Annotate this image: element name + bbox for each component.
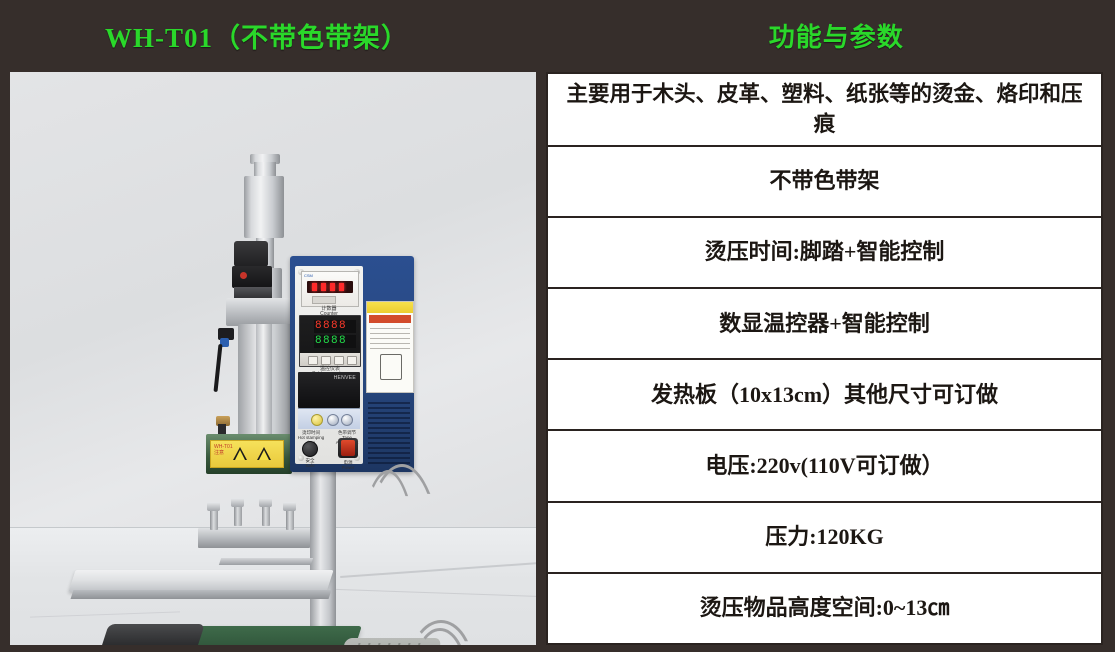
counter-brand-text: CSM: [304, 273, 313, 278]
machine-green-base: [178, 626, 362, 645]
hazard-triangle-icon-2: [257, 447, 271, 460]
header-left-cell: WH-T01（不带色带架）: [0, 0, 558, 70]
temp-btn-up[interactable]: [347, 356, 357, 365]
spec-row-2: 烫压时间:脚踏+智能控制: [548, 218, 1101, 289]
work-table-handle-block: [99, 624, 205, 645]
product-spec-page: WH-T01（不带色带架） 功能与参数: [0, 0, 1115, 652]
header-band: WH-T01（不带色带架） 功能与参数: [0, 0, 1115, 70]
spec-row-1: 不带色带架: [548, 147, 1101, 218]
hazard-triangle-icon-1: [233, 447, 247, 460]
timer-knob-yellow[interactable]: [311, 414, 323, 426]
mount-bolt-4: [286, 510, 294, 530]
sticker-header-bar: [367, 302, 413, 313]
mount-bolt-cap-2: [231, 498, 244, 507]
temp-display-pv: 88 88: [314, 320, 356, 333]
pneumatic-cylinder-upper: [244, 176, 284, 238]
work-table-edge: [71, 590, 332, 599]
temp-display-sv: 88 88: [314, 335, 356, 348]
sticker-red-bar: [369, 315, 411, 323]
timer-brand-text: HENVEE: [334, 375, 356, 381]
machine-frame-top-block: [226, 298, 300, 326]
temperature-controller-module: 88 88 88 88: [299, 315, 361, 367]
solenoid-valve-indicator: [240, 272, 247, 279]
solenoid-valve-coil: [234, 241, 268, 267]
work-table-surface: [68, 570, 333, 592]
sticker-hazard-icon: [380, 354, 402, 380]
header-right-cell: 功能与参数: [558, 0, 1115, 70]
spec-row-5: 电压:220v(110V可订做）: [548, 431, 1101, 502]
safety-knob[interactable]: [302, 441, 318, 457]
warning-label-brand-text: WH-T01注意: [214, 444, 233, 456]
spec-row-6: 压力:120KG: [548, 503, 1101, 574]
power-switch[interactable]: [338, 438, 358, 458]
machine-lower-column: [310, 468, 336, 630]
product-photo: WH-T01注意: [10, 72, 536, 645]
spec-row-4: 发热板（10x13cm）其他尺寸可订做: [548, 360, 1101, 431]
power-label: 电源Power: [334, 460, 362, 470]
page-title-right: 功能与参数: [769, 17, 904, 54]
mount-bolt-cap-4: [283, 502, 296, 511]
spec-row-3: 数显温控器+智能控制: [548, 289, 1101, 360]
counter-led-screen: [307, 281, 353, 293]
timer-module: HENVEE: [298, 372, 360, 408]
temp-btn-left[interactable]: [321, 356, 331, 365]
high-temperature-warning-label: WH-T01注意: [210, 440, 284, 468]
timer-knob-1[interactable]: [327, 414, 339, 426]
temp-btn-set[interactable]: [308, 356, 318, 365]
page-title-left: WH-T01（不带色带架）: [105, 16, 409, 55]
control-box-vents: [368, 402, 410, 466]
temp-btn-down[interactable]: [334, 356, 344, 365]
spec-row-0: 主要用于木头、皮革、塑料、纸张等的烫金、烙印和压痕: [548, 74, 1101, 147]
counter-display-module: CSM: [301, 271, 359, 307]
air-tube: [214, 344, 223, 392]
spec-row-7: 烫压物品高度空间:0~13㎝: [548, 574, 1101, 643]
temp-controller-buttons[interactable]: [300, 353, 360, 366]
work-table-rail: [219, 558, 313, 565]
spec-table: 主要用于木头、皮革、塑料、纸张等的烫金、烙印和压痕 不带色带架 烫压时间:脚踏+…: [546, 72, 1103, 645]
control-box-warning-sticker: [366, 301, 414, 393]
timer-knob-strip: [298, 408, 360, 429]
solenoid-valve-body: [232, 266, 272, 288]
heater-mount-plate: [198, 528, 310, 548]
mount-bolt-3: [262, 506, 270, 526]
mount-bolt-cap-3: [259, 498, 272, 507]
safe-label: 安全Safe: [296, 458, 324, 468]
mount-bolt-2: [234, 506, 242, 526]
air-fitting-lower: [218, 424, 226, 434]
counter-button-strip[interactable]: [312, 296, 336, 304]
mount-bolt-1: [210, 510, 218, 530]
timer-knob-2[interactable]: [341, 414, 353, 426]
mount-bolt-cap-1: [207, 502, 220, 511]
